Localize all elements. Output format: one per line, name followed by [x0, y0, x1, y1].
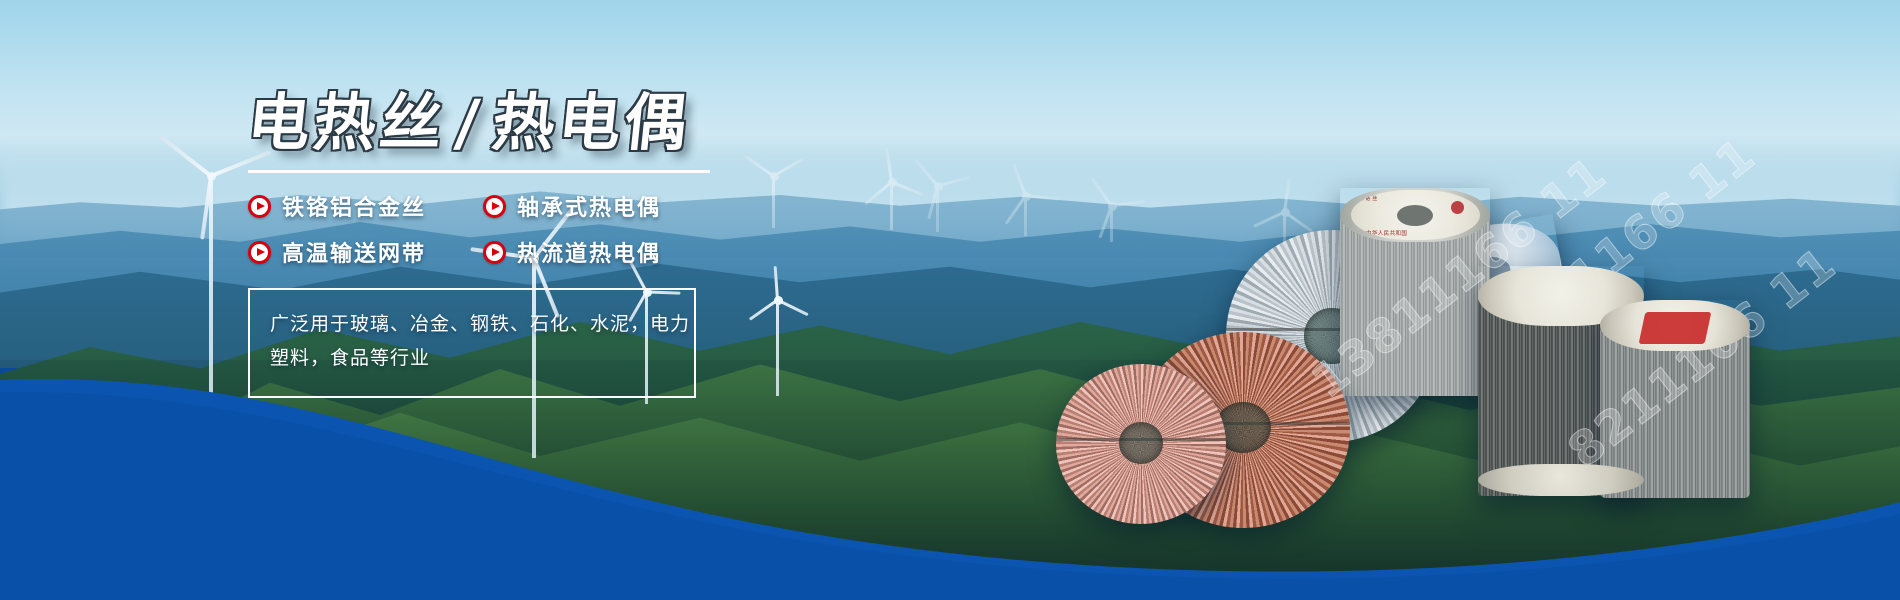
feature-label: 热流道热电偶 — [517, 236, 661, 268]
title-right: 热电偶 — [489, 86, 695, 159]
title-divider — [248, 170, 710, 173]
feature-list: 铁铬铝合金丝 轴承式热电偶 高温输送网带 热流道热电偶 — [248, 190, 718, 282]
spool-label-line2: 镍 铬 丝 — [1358, 196, 1377, 202]
page-title: 电热丝/热电偶 — [245, 92, 872, 154]
title-separator: / — [443, 92, 496, 154]
feature-item[interactable]: 铁铬铝合金丝 — [248, 190, 483, 222]
wind-turbine-icon — [884, 182, 900, 230]
promo-banner: Nichrome HS 镍 铬 丝 中华人民共和国 — [0, 0, 1900, 600]
feature-item[interactable]: 高温输送网带 — [248, 236, 483, 268]
play-circle-icon — [248, 241, 271, 264]
feature-label: 高温输送网带 — [282, 236, 426, 268]
play-circle-icon — [483, 241, 506, 264]
wind-turbine-icon — [1018, 196, 1034, 236]
play-circle-icon — [483, 195, 506, 218]
description-line-1: 广泛用于玻璃、冶金、钢铁、石化、水泥，电力 — [270, 308, 672, 342]
description-line-2: 塑料，食品等行业 — [270, 342, 672, 376]
description-box: 广泛用于玻璃、冶金、钢铁、石化、水泥，电力 塑料，食品等行业 — [248, 288, 696, 398]
feature-item[interactable]: 轴承式热电偶 — [483, 190, 718, 222]
feature-label: 轴承式热电偶 — [517, 190, 661, 222]
banner-text-block: 电热丝/热电偶 铁铬铝合金丝 轴承式热电偶 高温输送网带 热流道热电偶 广泛用于… — [248, 92, 868, 398]
play-circle-icon — [248, 195, 271, 218]
wind-turbine-icon — [930, 186, 946, 232]
feature-label: 铁铬铝合金丝 — [282, 190, 426, 222]
spool-label-line1: 中华人民共和国 — [1366, 229, 1407, 237]
feature-item[interactable]: 热流道热电偶 — [483, 236, 718, 268]
title-left: 电热丝 — [244, 86, 450, 159]
